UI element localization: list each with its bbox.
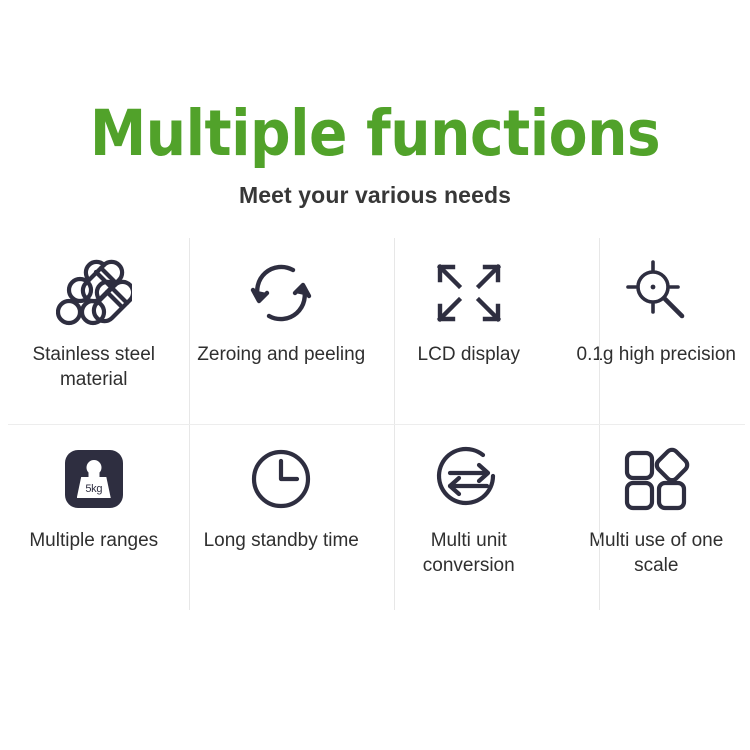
page-title: Multiple functions bbox=[0, 98, 750, 170]
expand-corners-icon bbox=[433, 256, 505, 330]
weight-body: 5kg bbox=[77, 477, 111, 498]
feature-cell-multi-use[interactable]: Multi use of one scale bbox=[563, 424, 750, 610]
feature-cell-stainless-steel[interactable]: Stainless steel material bbox=[0, 238, 188, 424]
feature-label: Stainless steel material bbox=[9, 342, 179, 392]
feature-cell-lcd-display[interactable]: LCD display bbox=[375, 238, 563, 424]
weight-tile: 5kg bbox=[65, 450, 123, 508]
grid-divider-horizontal bbox=[8, 424, 745, 425]
feature-cell-multiple-ranges[interactable]: 5kg Multiple ranges bbox=[0, 424, 188, 610]
feature-grid: Stainless steel material Zeroing and pee… bbox=[0, 238, 750, 610]
shapes-grid-icon bbox=[621, 442, 691, 516]
feature-highlights-page: Multiple functions Meet your various nee… bbox=[0, 0, 750, 750]
feature-row-top: Stainless steel material Zeroing and pee… bbox=[0, 238, 750, 424]
feature-label: 0.1g high precision bbox=[577, 342, 737, 367]
refresh-cycle-icon bbox=[246, 256, 316, 330]
feature-cell-high-precision[interactable]: 0.1g high precision bbox=[563, 238, 750, 424]
page-subtitle: Meet your various needs bbox=[0, 181, 750, 209]
feature-cell-unit-conversion[interactable]: Multi unit conversion bbox=[375, 424, 563, 610]
feature-label: LCD display bbox=[418, 342, 520, 367]
steel-pipes-icon bbox=[56, 256, 132, 330]
precision-target-icon bbox=[620, 256, 692, 330]
feature-label: Multiple ranges bbox=[29, 528, 158, 553]
weight-shape: 5kg bbox=[77, 460, 111, 498]
exchange-arrows-icon bbox=[435, 442, 503, 516]
weight-neck bbox=[88, 468, 99, 478]
feature-cell-zeroing-peeling[interactable]: Zeroing and peeling bbox=[188, 238, 376, 424]
page-header: Multiple functions Meet your various nee… bbox=[0, 98, 750, 209]
weight-5kg-icon: 5kg bbox=[65, 442, 123, 516]
feature-label: Zeroing and peeling bbox=[197, 342, 365, 367]
feature-cell-long-standby[interactable]: Long standby time bbox=[188, 424, 376, 610]
feature-row-bottom: 5kg Multiple ranges Long standby time bbox=[0, 424, 750, 610]
weight-badge-label: 5kg bbox=[85, 484, 102, 495]
feature-label: Multi unit conversion bbox=[384, 528, 554, 578]
clock-icon bbox=[247, 442, 315, 516]
feature-label: Long standby time bbox=[204, 528, 359, 553]
feature-label: Multi use of one scale bbox=[571, 528, 741, 578]
